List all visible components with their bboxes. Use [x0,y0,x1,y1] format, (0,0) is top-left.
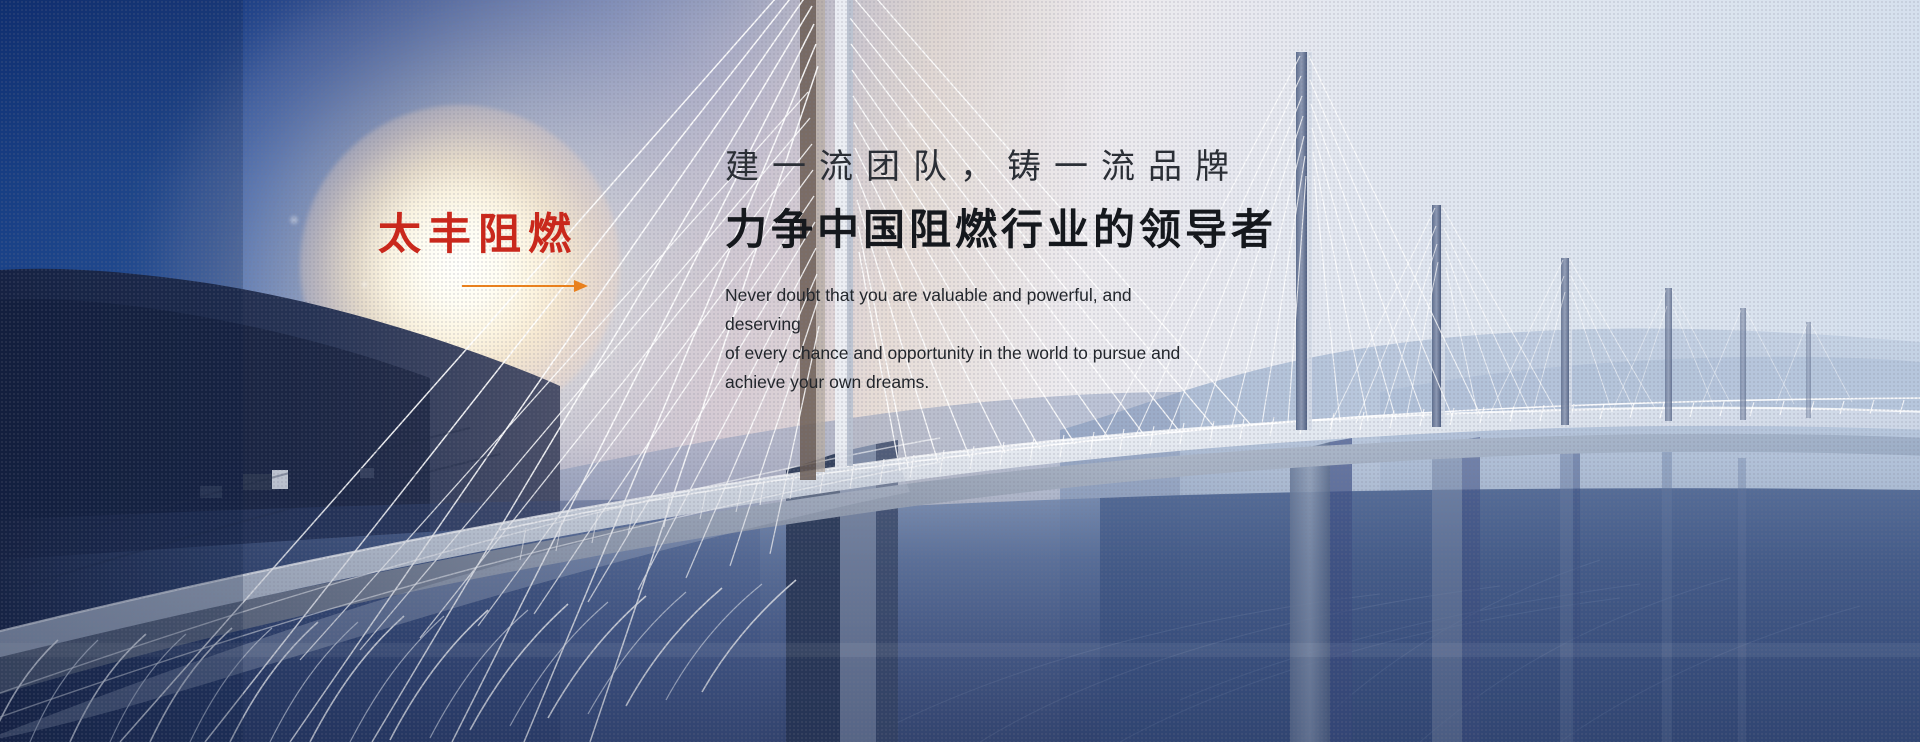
page-title: 力争中国阻燃行业的领导者 [725,206,1485,254]
description-line-2: of every chance and opportunity in the w… [725,339,1195,368]
headline-subtitle: 建一流团队，铸一流品牌 [725,148,1485,189]
brand-logo-text: 太丰阻燃 [378,214,678,257]
description-line-3: achieve your own dreams. [725,368,1195,397]
arrow-head [574,280,588,292]
description-text: Never doubt that you are valuable and po… [725,281,1195,397]
description-line-1: Never doubt that you are valuable and po… [725,281,1195,339]
headline-block: 建一流团队，铸一流品牌 力争中国阻燃行业的领导者 Never doubt tha… [725,148,1485,397]
banner-content: 太丰阻燃 建一流团队，铸一流品牌 力争中国阻燃行业的领导者 Never doub… [0,0,1920,742]
hero-banner: 太丰阻燃 建一流团队，铸一流品牌 力争中国阻燃行业的领导者 Never doub… [0,0,1920,742]
arrow-shaft [462,285,584,287]
brand-logo[interactable]: 太丰阻燃 [378,214,678,293]
arrow-right-icon [462,279,602,293]
